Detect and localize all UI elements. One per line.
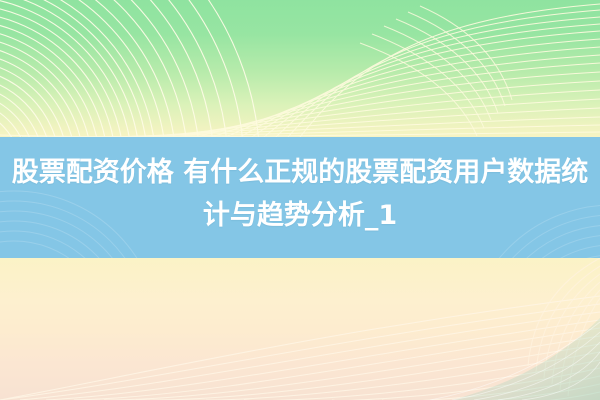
page-title: 股票配资价格 有什么正规的股票配资用户数据统计与趋势分析_1 bbox=[8, 137, 592, 237]
banner-canvas: 股票配资价格 有什么正规的股票配资用户数据统计与趋势分析_1 bbox=[0, 0, 600, 400]
title-band: 股票配资价格 有什么正规的股票配资用户数据统计与趋势分析_1 bbox=[0, 137, 600, 258]
